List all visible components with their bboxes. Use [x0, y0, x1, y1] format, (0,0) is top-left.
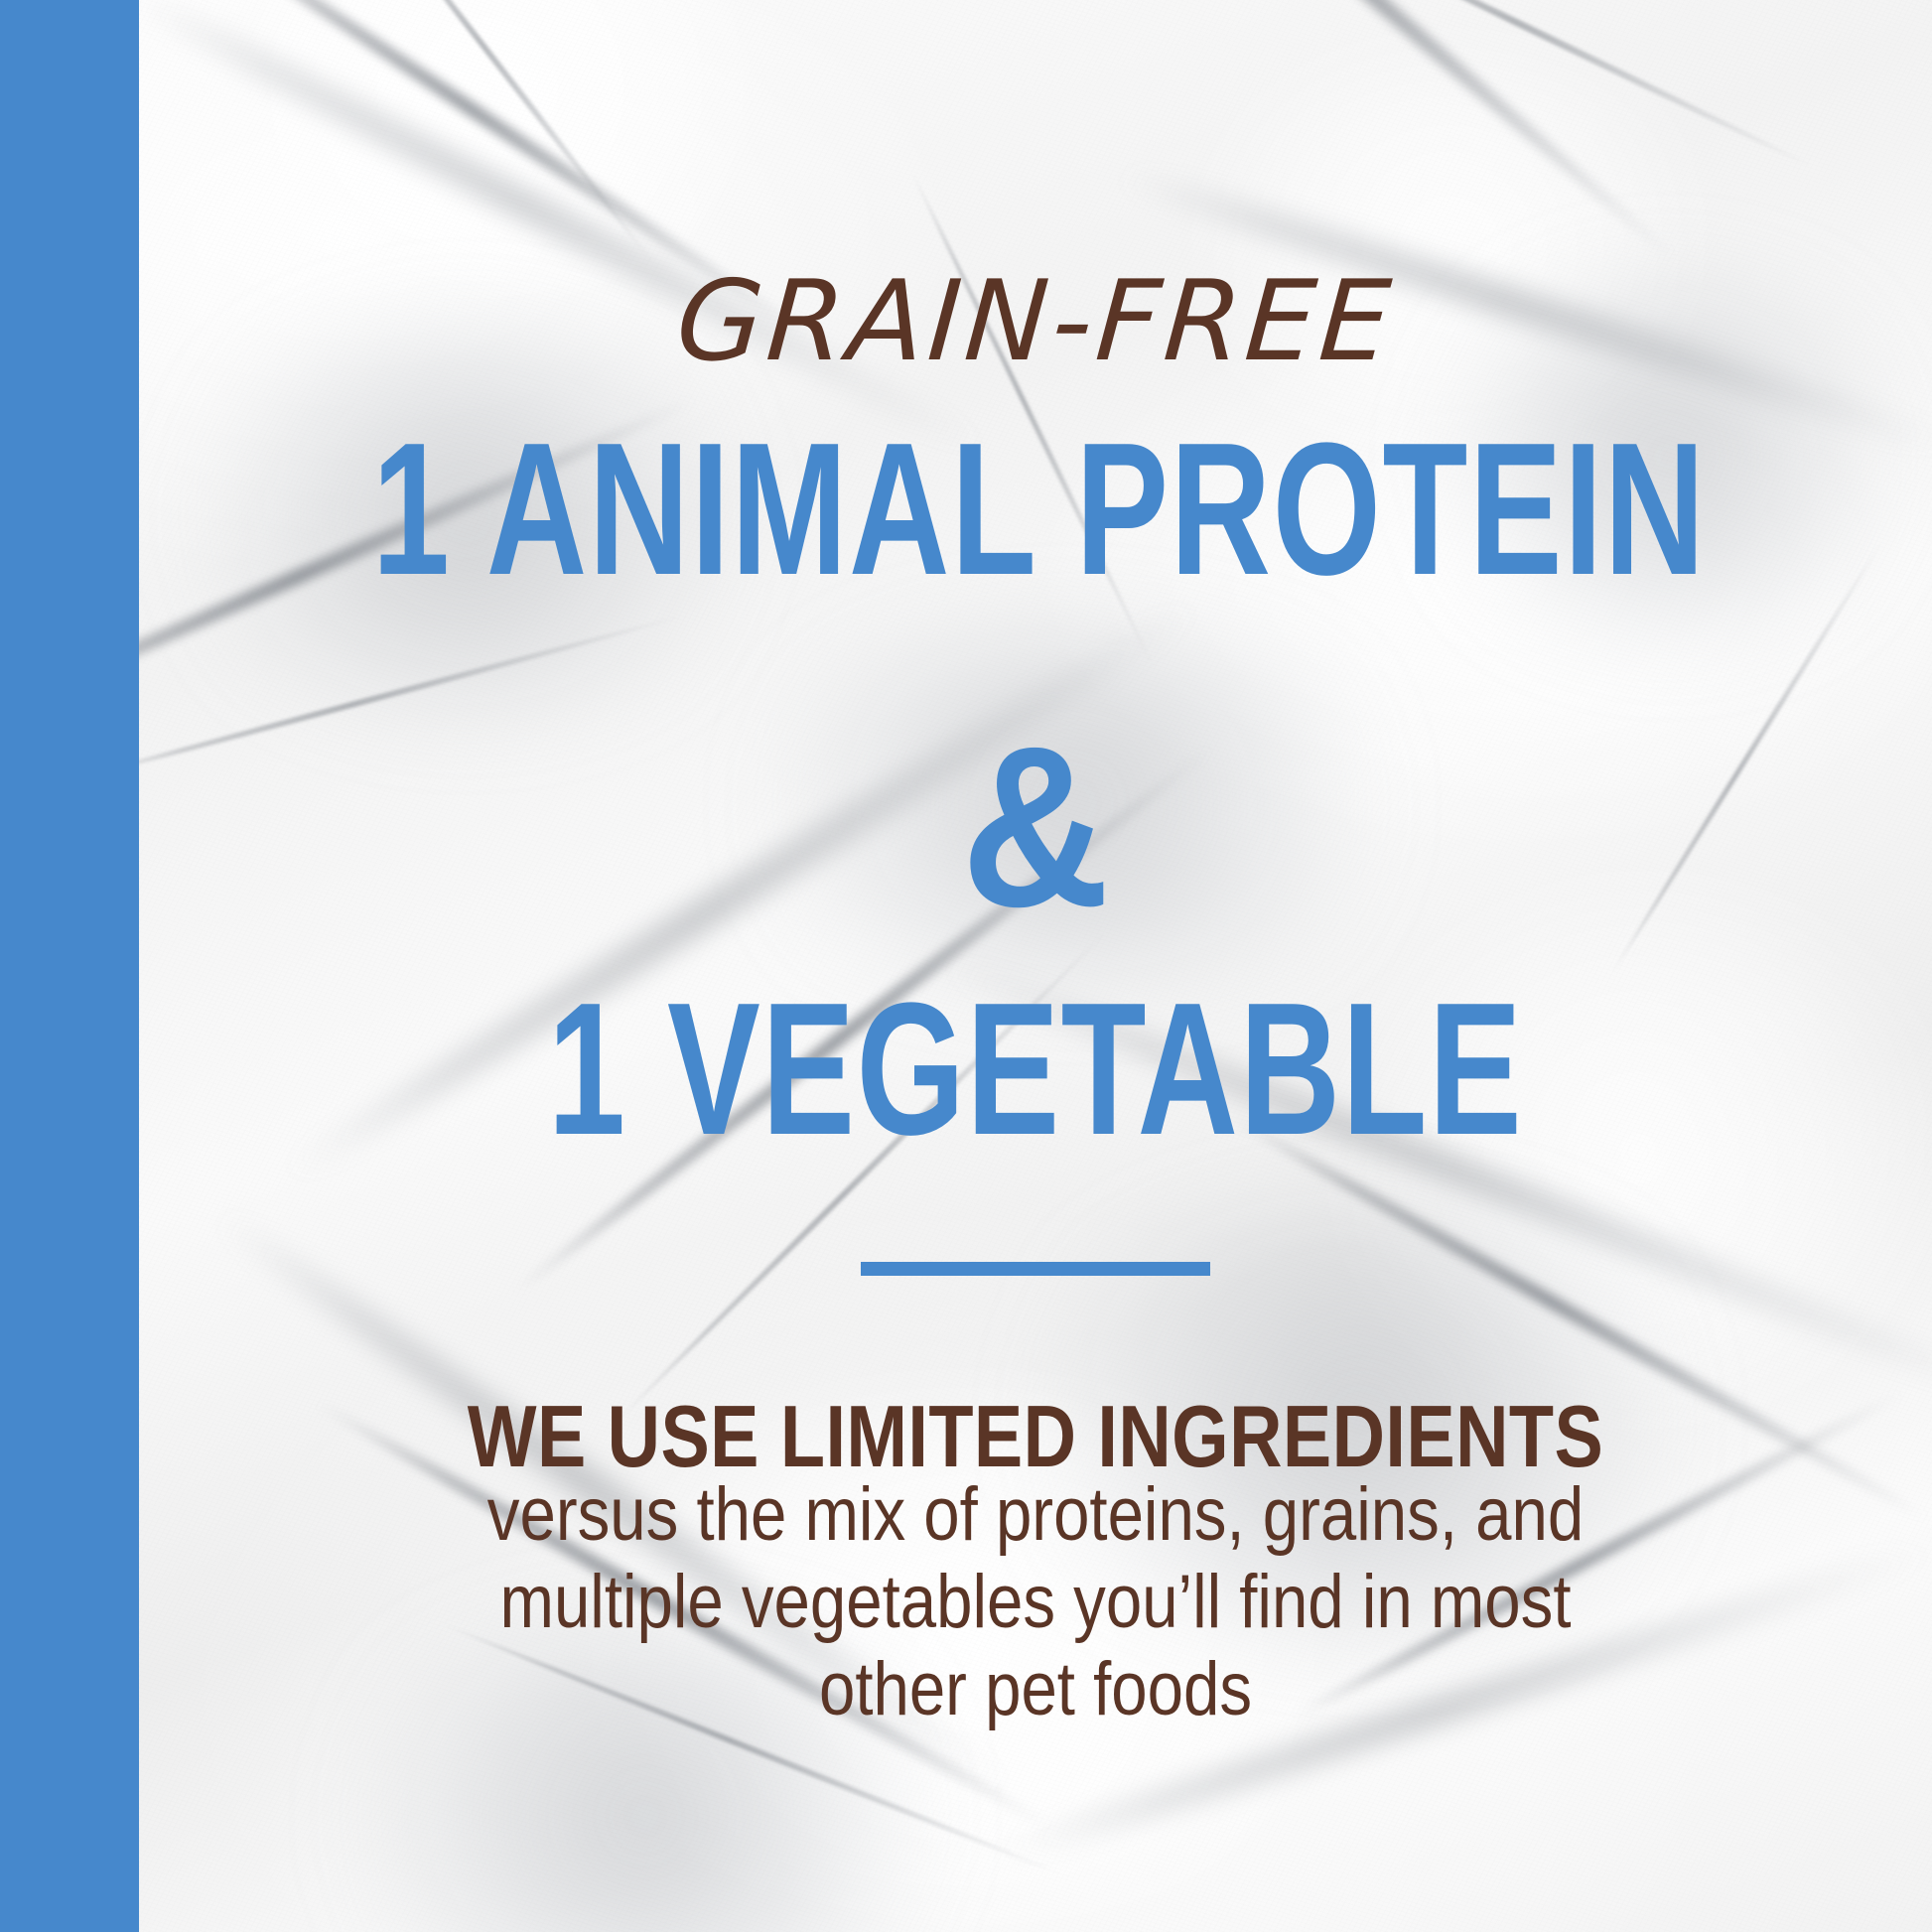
blue-divider-rule	[861, 1262, 1210, 1276]
blue-accent-bar	[0, 0, 139, 1932]
body-copy-line: versus the mix of proteins, grains, and	[264, 1471, 1806, 1559]
subheadline-limited-ingredients: WE USE LIMITED INGREDIENTS	[282, 1393, 1788, 1480]
body-copy: versus the mix of proteins, grains, and …	[264, 1471, 1806, 1733]
headline-animal-protein: 1 ANIMAL PROTEIN	[372, 415, 1699, 604]
headline-ampersand: &	[228, 713, 1842, 941]
body-copy-line: other pet foods	[264, 1646, 1806, 1733]
content-column: GRAIN-FREE 1 ANIMAL PROTEIN & 1 VEGETABL…	[139, 0, 1932, 1932]
headline-vegetable: 1 VEGETABLE	[372, 975, 1699, 1164]
marketing-callout-card: GRAIN-FREE 1 ANIMAL PROTEIN & 1 VEGETABL…	[0, 0, 1932, 1932]
body-copy-line: multiple vegetables you’ll find in most	[264, 1559, 1806, 1646]
eyebrow-grain-free: GRAIN-FREE	[135, 266, 1932, 377]
